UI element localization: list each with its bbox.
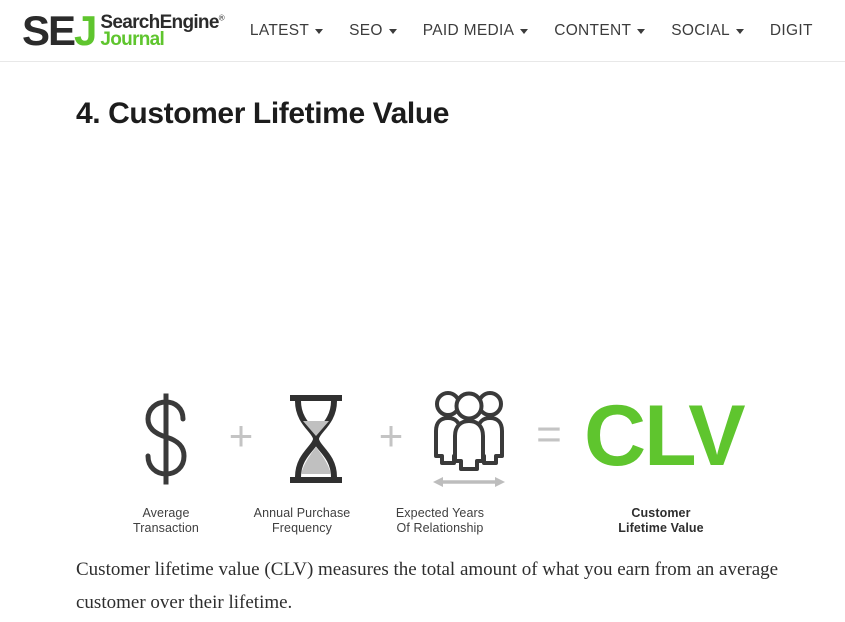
label-expected-years-of-relationship: Expected Years Of Relationship [384, 506, 496, 536]
nav-item-latest-label: LATEST [250, 22, 309, 40]
hourglass-icon [284, 391, 348, 487]
chevron-down-icon [315, 29, 323, 34]
operator-plus-1: + [214, 415, 268, 457]
logo-word-searchengine-text: SearchEngine [100, 12, 218, 33]
registered-trademark-icon: ® [219, 14, 224, 23]
nav-item-social[interactable]: SOCIAL [671, 22, 744, 40]
icon-cell-expected-years-of-relationship [418, 389, 520, 489]
label-customer-lifetime-value: Customer Lifetime Value [581, 506, 741, 536]
logo-mark: SEJ [22, 10, 95, 52]
dollar-sign-icon [135, 391, 197, 487]
nav-item-content-label: CONTENT [554, 22, 631, 40]
chevron-down-icon [520, 29, 528, 34]
nav-item-content[interactable]: CONTENT [554, 22, 645, 40]
operator-equals: = [520, 413, 578, 457]
nav-item-seo-label: SEO [349, 22, 383, 40]
label-average-transaction-line2: Transaction [118, 521, 214, 536]
clv-formula-infographic: + + [0, 131, 845, 461]
label-expected-years-of-relationship-line1: Expected Years [384, 506, 496, 521]
operator-plus-2: + [364, 415, 418, 457]
site-logo[interactable]: SEJ SearchEngine® Journal [22, 10, 224, 52]
clv-acronym: CLV [584, 393, 744, 479]
logo-word-searchengine: SearchEngine® [100, 13, 224, 32]
label-average-transaction-line1: Average [118, 506, 214, 521]
logo-mark-se: SE [22, 10, 74, 52]
article-paragraph: Customer lifetime value (CLV) measures t… [76, 553, 806, 619]
group-of-people-icon [430, 387, 508, 491]
nav-item-digital-label: DIGIT [770, 22, 813, 40]
nav-item-paid-media[interactable]: PAID MEDIA [423, 22, 528, 40]
article-content: 4. Customer Lifetime Value + [0, 97, 845, 461]
page-title: 4. Customer Lifetime Value [76, 97, 845, 131]
icon-cell-average-transaction [118, 389, 214, 489]
label-annual-purchase-frequency-line2: Frequency [247, 521, 357, 536]
label-customer-lifetime-value-line1: Customer [581, 506, 741, 521]
nav-item-seo[interactable]: SEO [349, 22, 397, 40]
nav-item-latest[interactable]: LATEST [250, 22, 323, 40]
formula-row: + + [118, 381, 778, 496]
chevron-down-icon [736, 29, 744, 34]
logo-wordmark: SearchEngine® Journal [100, 10, 224, 49]
double-headed-arrow-icon [433, 477, 505, 487]
nav-item-social-label: SOCIAL [671, 22, 730, 40]
label-annual-purchase-frequency: Annual Purchase Frequency [247, 506, 357, 536]
label-customer-lifetime-value-line2: Lifetime Value [581, 521, 741, 536]
label-expected-years-of-relationship-line2: Of Relationship [384, 521, 496, 536]
icon-cell-annual-purchase-frequency [268, 389, 364, 489]
logo-mark-j: J [74, 10, 95, 52]
site-header: SEJ SearchEngine® Journal LATEST SEO PAI… [0, 0, 845, 62]
label-average-transaction: Average Transaction [118, 506, 214, 536]
main-navigation: LATEST SEO PAID MEDIA CONTENT SOCIAL DIG… [250, 22, 813, 40]
label-annual-purchase-frequency-line1: Annual Purchase [247, 506, 357, 521]
formula-labels-row: Average Transaction Annual Purchase Freq… [118, 506, 778, 546]
chevron-down-icon [637, 29, 645, 34]
chevron-down-icon [389, 29, 397, 34]
nav-item-paid-media-label: PAID MEDIA [423, 22, 514, 40]
nav-item-digital[interactable]: DIGIT [770, 22, 813, 40]
